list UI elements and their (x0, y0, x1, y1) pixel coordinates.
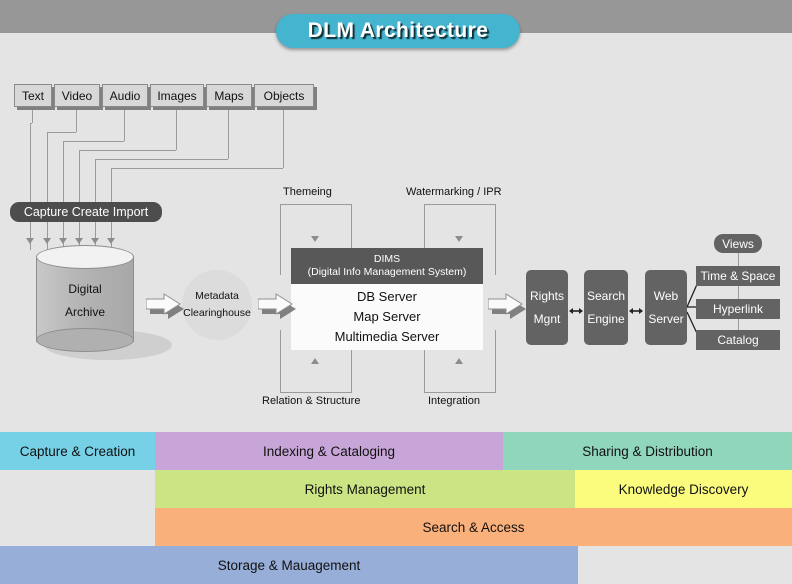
dims-server-1: DB Server (357, 287, 417, 307)
output-time-space: Time & Space (696, 266, 780, 286)
label-integration: Integration (428, 395, 480, 407)
source-box-video[interactable]: Video (54, 84, 100, 107)
source-box-label: Video (62, 89, 92, 103)
archive-label-line2: Archive (36, 301, 134, 324)
source-box-text[interactable]: Text (14, 84, 52, 107)
band-sharing-distribution[interactable]: Sharing & Distribution (503, 432, 792, 470)
service-label-line1: Web (654, 285, 678, 308)
page-title: DLM Architecture (276, 14, 520, 48)
src-rail-1 (47, 132, 48, 250)
src-stem-4 (228, 106, 229, 159)
source-box-label: Maps (214, 89, 243, 103)
band-capture-creation[interactable]: Capture & Creation (0, 432, 155, 470)
service-label-line2: Server (648, 308, 683, 331)
capture-create-import-bar: Capture Create Import (10, 202, 162, 222)
label-themeing: Themeing (283, 186, 332, 198)
arrow-archive-to-clearinghouse (146, 293, 186, 319)
band-knowledge-discovery[interactable]: Knowledge Discovery (575, 470, 792, 508)
service-label-line2: Engine (587, 308, 624, 331)
capture-arrow-2 (59, 238, 67, 244)
service-label-line1: Search (587, 285, 625, 308)
capture-arrow-0 (26, 238, 34, 244)
band-rights-management[interactable]: Rights Management (155, 470, 575, 508)
src-elbow-2 (63, 141, 124, 142)
arrow-dims-to-rights (488, 293, 528, 319)
arrow-watermarking-down (455, 236, 463, 242)
src-rail-0 (30, 123, 31, 250)
service-label-line1: Rights (530, 285, 564, 308)
dims-body: DB Server Map Server Multimedia Server (291, 284, 483, 350)
dims-title: DIMS (374, 253, 400, 266)
src-rail-2 (63, 141, 64, 250)
service-label-line2: Mgnt (534, 308, 561, 331)
src-elbow-1 (47, 132, 76, 133)
source-box-images[interactable]: Images (150, 84, 204, 107)
line-time-to-hyperlink (738, 285, 739, 300)
band-label: Indexing & Cataloging (263, 444, 395, 459)
band-label: Knowledge Discovery (619, 482, 749, 497)
capture-arrow-5 (107, 238, 115, 244)
band-label: Rights Management (305, 482, 426, 497)
src-stem-0 (32, 106, 33, 123)
source-box-label: Objects (264, 89, 305, 103)
src-elbow-4 (95, 159, 228, 160)
arrow-search-web (629, 303, 643, 313)
src-stem-3 (176, 106, 177, 150)
dims-server-2: Map Server (353, 307, 420, 327)
metadata-clearinghouse: Metadata Clearinghouse (182, 270, 252, 340)
source-box-maps[interactable]: Maps (206, 84, 252, 107)
src-stem-5 (283, 106, 284, 168)
line-hyperlink-to-catalog (738, 318, 739, 330)
archive-cylinder-top (36, 245, 134, 269)
src-elbow-5 (111, 168, 283, 169)
diagram-canvas: DLM Architecture TextVideoAudioImagesMap… (0, 0, 792, 584)
dims-server-3: Multimedia Server (335, 327, 440, 347)
band-indexing-cataloging[interactable]: Indexing & Cataloging (155, 432, 503, 470)
label-watermarking: Watermarking / IPR (406, 186, 502, 198)
source-box-label: Audio (110, 89, 141, 103)
archive-label-line1: Digital (36, 278, 134, 301)
src-stem-2 (124, 106, 125, 141)
capture-arrow-3 (75, 238, 83, 244)
label-relation-structure: Relation & Structure (262, 395, 360, 407)
capture-arrow-4 (91, 238, 99, 244)
source-box-label: Text (22, 89, 44, 103)
output-hyperlink: Hyperlink (696, 299, 780, 319)
src-elbow-3 (79, 150, 176, 151)
capture-arrow-1 (43, 238, 51, 244)
archive-cylinder-bottom (36, 328, 134, 352)
dims-header: DIMS (Digital Info Management System) (291, 248, 483, 284)
clearinghouse-line2: Clearinghouse (183, 305, 251, 322)
service-box-search[interactable]: SearchEngine (584, 270, 628, 345)
band-label: Capture & Creation (20, 444, 136, 459)
dims-subtitle: (Digital Info Management System) (308, 266, 467, 279)
clearinghouse-line1: Metadata (195, 288, 239, 305)
source-box-objects[interactable]: Objects (254, 84, 314, 107)
band-search-access[interactable]: Search & Access (155, 508, 792, 546)
src-stem-1 (76, 106, 77, 132)
arrow-integration-up (455, 358, 463, 364)
band-label: Storage & Mauagement (218, 558, 361, 573)
arrow-rights-search (569, 303, 583, 313)
band-label: Search & Access (422, 520, 524, 535)
arrow-clearinghouse-to-dims (258, 293, 298, 319)
arrow-themeing-down (311, 236, 319, 242)
arrow-relation-up (311, 358, 319, 364)
service-box-web[interactable]: WebServer (645, 270, 687, 345)
source-box-label: Images (157, 89, 196, 103)
band-label: Sharing & Distribution (582, 444, 713, 459)
output-views: Views (714, 234, 762, 253)
source-box-audio[interactable]: Audio (102, 84, 148, 107)
output-catalog: Catalog (696, 330, 780, 350)
src-rail-3 (79, 150, 80, 250)
service-box-rights[interactable]: RightsMgnt (526, 270, 568, 345)
archive-label: Digital Archive (36, 278, 134, 324)
band-storage-mauagement[interactable]: Storage & Mauagement (0, 546, 578, 584)
